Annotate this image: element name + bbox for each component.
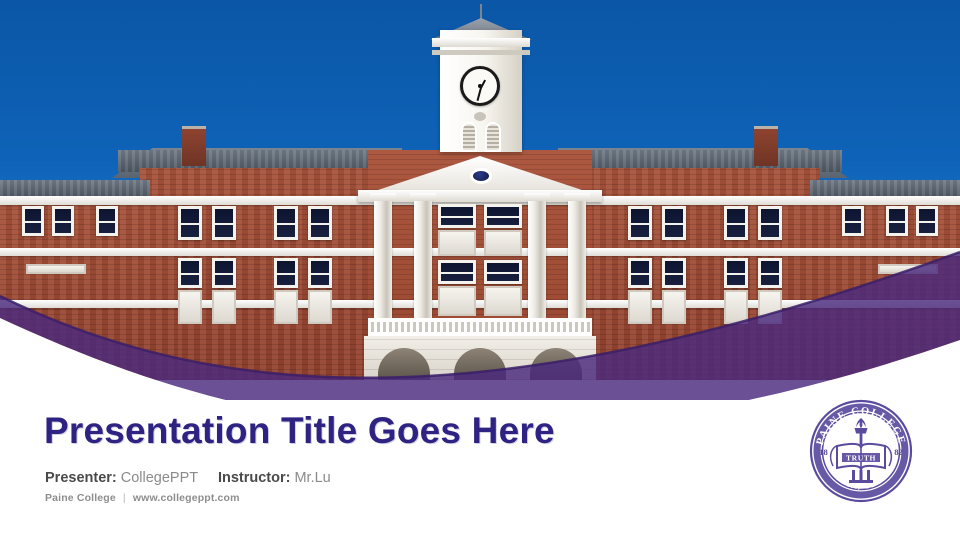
portico-column [414,200,432,318]
seal-motto: TRUTH [846,453,876,462]
window-panel [758,290,782,324]
tower-cornice-lower [432,50,530,55]
presenter-label: Presenter: [45,470,117,486]
title-slide: Presentation Title Goes Here Presenter: … [0,0,960,540]
window [484,204,522,228]
window-panel [26,264,86,274]
cornice-band-lower [0,300,960,308]
window [274,206,298,240]
instructor-value: Mr.Lu [294,470,330,486]
portico-column [568,200,586,318]
portico-balustrade [368,318,592,336]
instructor-label: Instructor: [218,470,291,486]
college-seal: PAINE COLLEGE AUGUSTA, GEORGIA TRUTH [806,396,916,506]
page-title: Presentation Title Goes Here [44,410,555,452]
presenter-line: Presenter: CollegePPT Instructor: Mr.Lu [45,470,331,486]
seal-year-right: 82 [894,447,903,457]
window [628,206,652,240]
window [274,258,298,288]
clock-face [460,66,500,106]
window [662,206,686,240]
window-panel [484,286,522,316]
organization-name: Paine College [45,492,116,504]
window-panel [724,290,748,324]
organization-line: Paine College | www.collegeppt.com [45,492,240,504]
cornice-band-middle [0,248,960,256]
tower-cornice-upper [432,38,530,47]
window [308,258,332,288]
seal-year-left: 18 [819,447,828,457]
chimney-left [182,126,206,166]
clock-center-pin [478,84,482,88]
window [438,260,476,284]
window [886,206,908,236]
window [662,258,686,288]
window [438,204,476,228]
window [916,206,938,236]
window [758,258,782,288]
window [178,258,202,288]
organization-separator: | [119,492,130,504]
window [628,258,652,288]
window [724,258,748,288]
tower-louver [485,122,501,152]
oculus-window [470,168,492,184]
window-panel [178,290,202,324]
seal-book-icon: TRUTH [837,444,885,470]
window-panel [878,264,938,274]
window-panel [438,286,476,316]
portico-column [528,200,546,318]
organization-website[interactable]: www.collegeppt.com [133,492,240,504]
window-panel [484,230,522,256]
window-panel [438,230,476,256]
window-panel [662,290,686,324]
tower-medallion [474,112,486,121]
window [22,206,44,236]
window [52,206,74,236]
chimney-right [754,126,778,166]
window [96,206,118,236]
window-panel [212,290,236,324]
window [212,206,236,240]
presenter-value: CollegePPT [121,470,198,486]
window-panel [308,290,332,324]
window [308,206,332,240]
clock-minute-hand [476,87,481,101]
portico-column [374,200,392,318]
window [758,206,782,240]
window [484,260,522,284]
window [724,206,748,240]
window-panel [628,290,652,324]
hero-photo [0,0,960,380]
seal-pedestal-icon [849,470,873,483]
window [842,206,864,236]
window-panel [274,290,298,324]
window [178,206,202,240]
window [212,258,236,288]
tower-louver [461,122,477,152]
